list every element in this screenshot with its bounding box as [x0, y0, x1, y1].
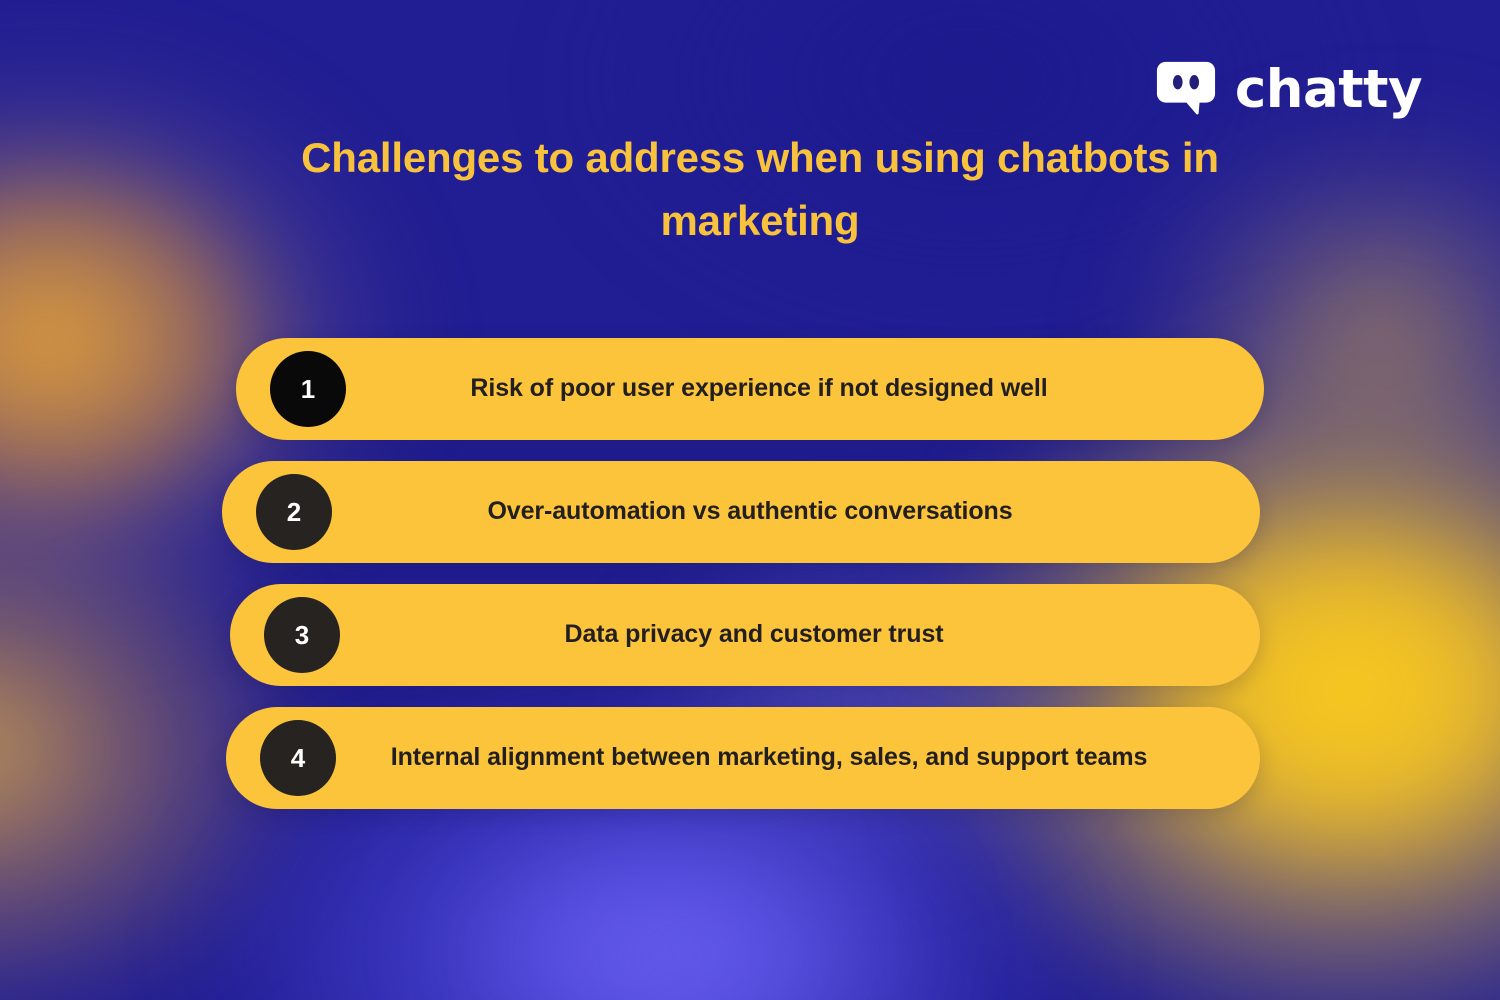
challenge-list: 1 Risk of poor user experience if not de… [222, 338, 1264, 809]
item-label: Risk of poor user experience if not desi… [346, 373, 1264, 404]
item-number-badge: 4 [260, 720, 336, 796]
item-number: 1 [301, 376, 315, 402]
list-item[interactable]: 4 Internal alignment between marketing, … [226, 707, 1260, 809]
item-label: Data privacy and customer trust [340, 619, 1260, 650]
item-number: 4 [291, 745, 305, 771]
brand-wordmark: chatty [1235, 63, 1422, 116]
chat-bubble-icon [1155, 58, 1217, 120]
infographic-content: chatty Challenges to address when using … [0, 0, 1500, 1000]
item-number-badge: 2 [256, 474, 332, 550]
list-item[interactable]: 1 Risk of poor user experience if not de… [236, 338, 1264, 440]
brand-logo: chatty [1155, 58, 1422, 120]
list-item[interactable]: 2 Over-automation vs authentic conversat… [222, 461, 1260, 563]
infographic-canvas: chatty Challenges to address when using … [0, 0, 1500, 1000]
item-number-badge: 1 [270, 351, 346, 427]
item-label: Over-automation vs authentic conversatio… [332, 496, 1260, 527]
item-number: 2 [287, 499, 301, 525]
page-title: Challenges to address when using chatbot… [250, 126, 1270, 252]
item-label: Internal alignment between marketing, sa… [336, 742, 1260, 773]
list-item[interactable]: 3 Data privacy and customer trust [230, 584, 1260, 686]
item-number: 3 [295, 622, 309, 648]
item-number-badge: 3 [264, 597, 340, 673]
